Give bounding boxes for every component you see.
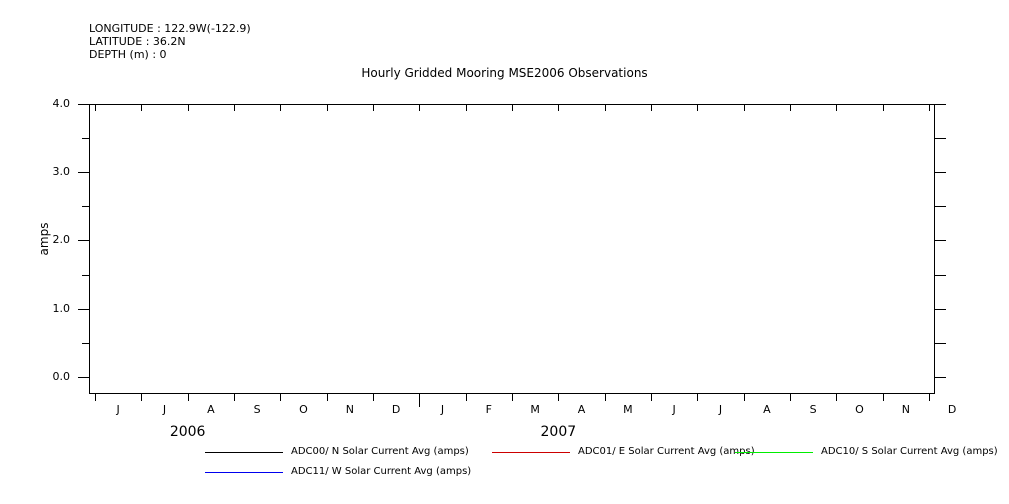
x-tick-label: A [196, 403, 226, 416]
x-tick-month-top [466, 104, 467, 111]
y-tick-label: 1.0 [10, 302, 70, 315]
x-tick-label: J [428, 403, 458, 416]
y-tick-minor-right [935, 206, 946, 207]
x-tick-label: M [520, 403, 550, 416]
legend-color-swatch [492, 452, 570, 453]
x-tick-month [605, 394, 606, 401]
x-tick-month [373, 394, 374, 401]
x-tick-month [141, 394, 142, 401]
y-tick-minor [82, 275, 89, 276]
y-tick-major-right [935, 309, 946, 310]
x-tick-label: D [381, 403, 411, 416]
legend-color-swatch [205, 472, 283, 473]
x-tick-label: A [752, 403, 782, 416]
chart-page: LONGITUDE : 122.9W(-122.9) LATITUDE : 36… [0, 0, 1009, 504]
chart-title: Hourly Gridded Mooring MSE2006 Observati… [0, 66, 1009, 80]
header-latitude: LATITUDE : 36.2N [89, 35, 186, 48]
y-tick-label: 3.0 [10, 165, 70, 178]
header-longitude: LONGITUDE : 122.9W(-122.9) [89, 22, 251, 35]
x-tick-label: N [891, 403, 921, 416]
x-tick-month-top [836, 104, 837, 111]
x-tick-month [883, 394, 884, 401]
x-tick-month [234, 394, 235, 401]
y-tick-label: 2.0 [10, 233, 70, 246]
x-tick-month [188, 394, 189, 401]
x-tick-month-top [883, 104, 884, 111]
x-tick-month-top [188, 104, 189, 111]
y-tick-major [78, 377, 89, 378]
y-tick-label: 4.0 [10, 97, 70, 110]
x-tick-label: S [798, 403, 828, 416]
x-tick-label: J [706, 403, 736, 416]
x-tick-month [697, 394, 698, 401]
x-tick-month-top [512, 104, 513, 111]
legend-label: ADC01/ E Solar Current Avg (amps) [578, 444, 755, 460]
x-tick-label: A [567, 403, 597, 416]
legend-color-swatch [735, 452, 813, 453]
x-tick-month [558, 394, 559, 401]
x-tick-month-top [327, 104, 328, 111]
y-tick-minor [82, 343, 89, 344]
x-axis-year-label: 2007 [513, 424, 603, 440]
x-tick-label: J [659, 403, 689, 416]
x-tick-month-top [651, 104, 652, 111]
x-tick-month [280, 394, 281, 401]
x-tick-month [95, 394, 96, 401]
x-axis-year-label: 2006 [143, 424, 233, 440]
y-tick-major-right [935, 172, 946, 173]
legend-label: ADC00/ N Solar Current Avg (amps) [291, 444, 469, 460]
x-tick-month-top [141, 104, 142, 111]
y-tick-major [78, 172, 89, 173]
x-tick-label: F [474, 403, 504, 416]
x-tick-label: M [613, 403, 643, 416]
x-tick-label: O [289, 403, 319, 416]
x-tick-month-top [558, 104, 559, 111]
x-tick-month [466, 394, 467, 401]
y-tick-major-right [935, 240, 946, 241]
x-tick-month [327, 394, 328, 401]
y-tick-major [78, 309, 89, 310]
y-tick-major-right [935, 377, 946, 378]
x-tick-month [512, 394, 513, 401]
x-tick-month-top [95, 104, 96, 111]
x-tick-month-top [373, 104, 374, 111]
x-tick-month [651, 394, 652, 401]
x-tick-month-top [605, 104, 606, 111]
x-tick-month [836, 394, 837, 401]
x-tick-month-top [790, 104, 791, 111]
y-tick-major [78, 240, 89, 241]
plot-frame [89, 104, 935, 394]
x-tick-label: N [335, 403, 365, 416]
x-tick-month [790, 394, 791, 401]
x-tick-month [929, 394, 930, 401]
x-tick-label: S [242, 403, 272, 416]
x-tick-month-top [929, 104, 930, 111]
x-tick-month-top [744, 104, 745, 111]
legend-color-swatch [205, 452, 283, 453]
x-tick-label: J [103, 403, 133, 416]
legend-label: ADC11/ W Solar Current Avg (amps) [291, 464, 471, 480]
y-tick-minor-right [935, 275, 946, 276]
x-tick-month-top [697, 104, 698, 111]
y-tick-major-right [935, 104, 946, 105]
legend-label: ADC10/ S Solar Current Avg (amps) [821, 444, 998, 460]
y-tick-major [78, 104, 89, 105]
x-tick-month-top [234, 104, 235, 111]
y-tick-minor-right [935, 138, 946, 139]
x-tick-month [744, 394, 745, 401]
header-depth: DEPTH (m) : 0 [89, 48, 167, 61]
x-tick-label: J [150, 403, 180, 416]
x-tick-year-boundary [419, 394, 420, 407]
x-tick-label: D [937, 403, 967, 416]
y-tick-minor [82, 206, 89, 207]
y-tick-label: 0.0 [10, 370, 70, 383]
x-tick-month-top [280, 104, 281, 111]
x-tick-month-top [419, 104, 420, 111]
y-tick-minor-right [935, 343, 946, 344]
x-tick-label: O [845, 403, 875, 416]
y-tick-minor [82, 138, 89, 139]
